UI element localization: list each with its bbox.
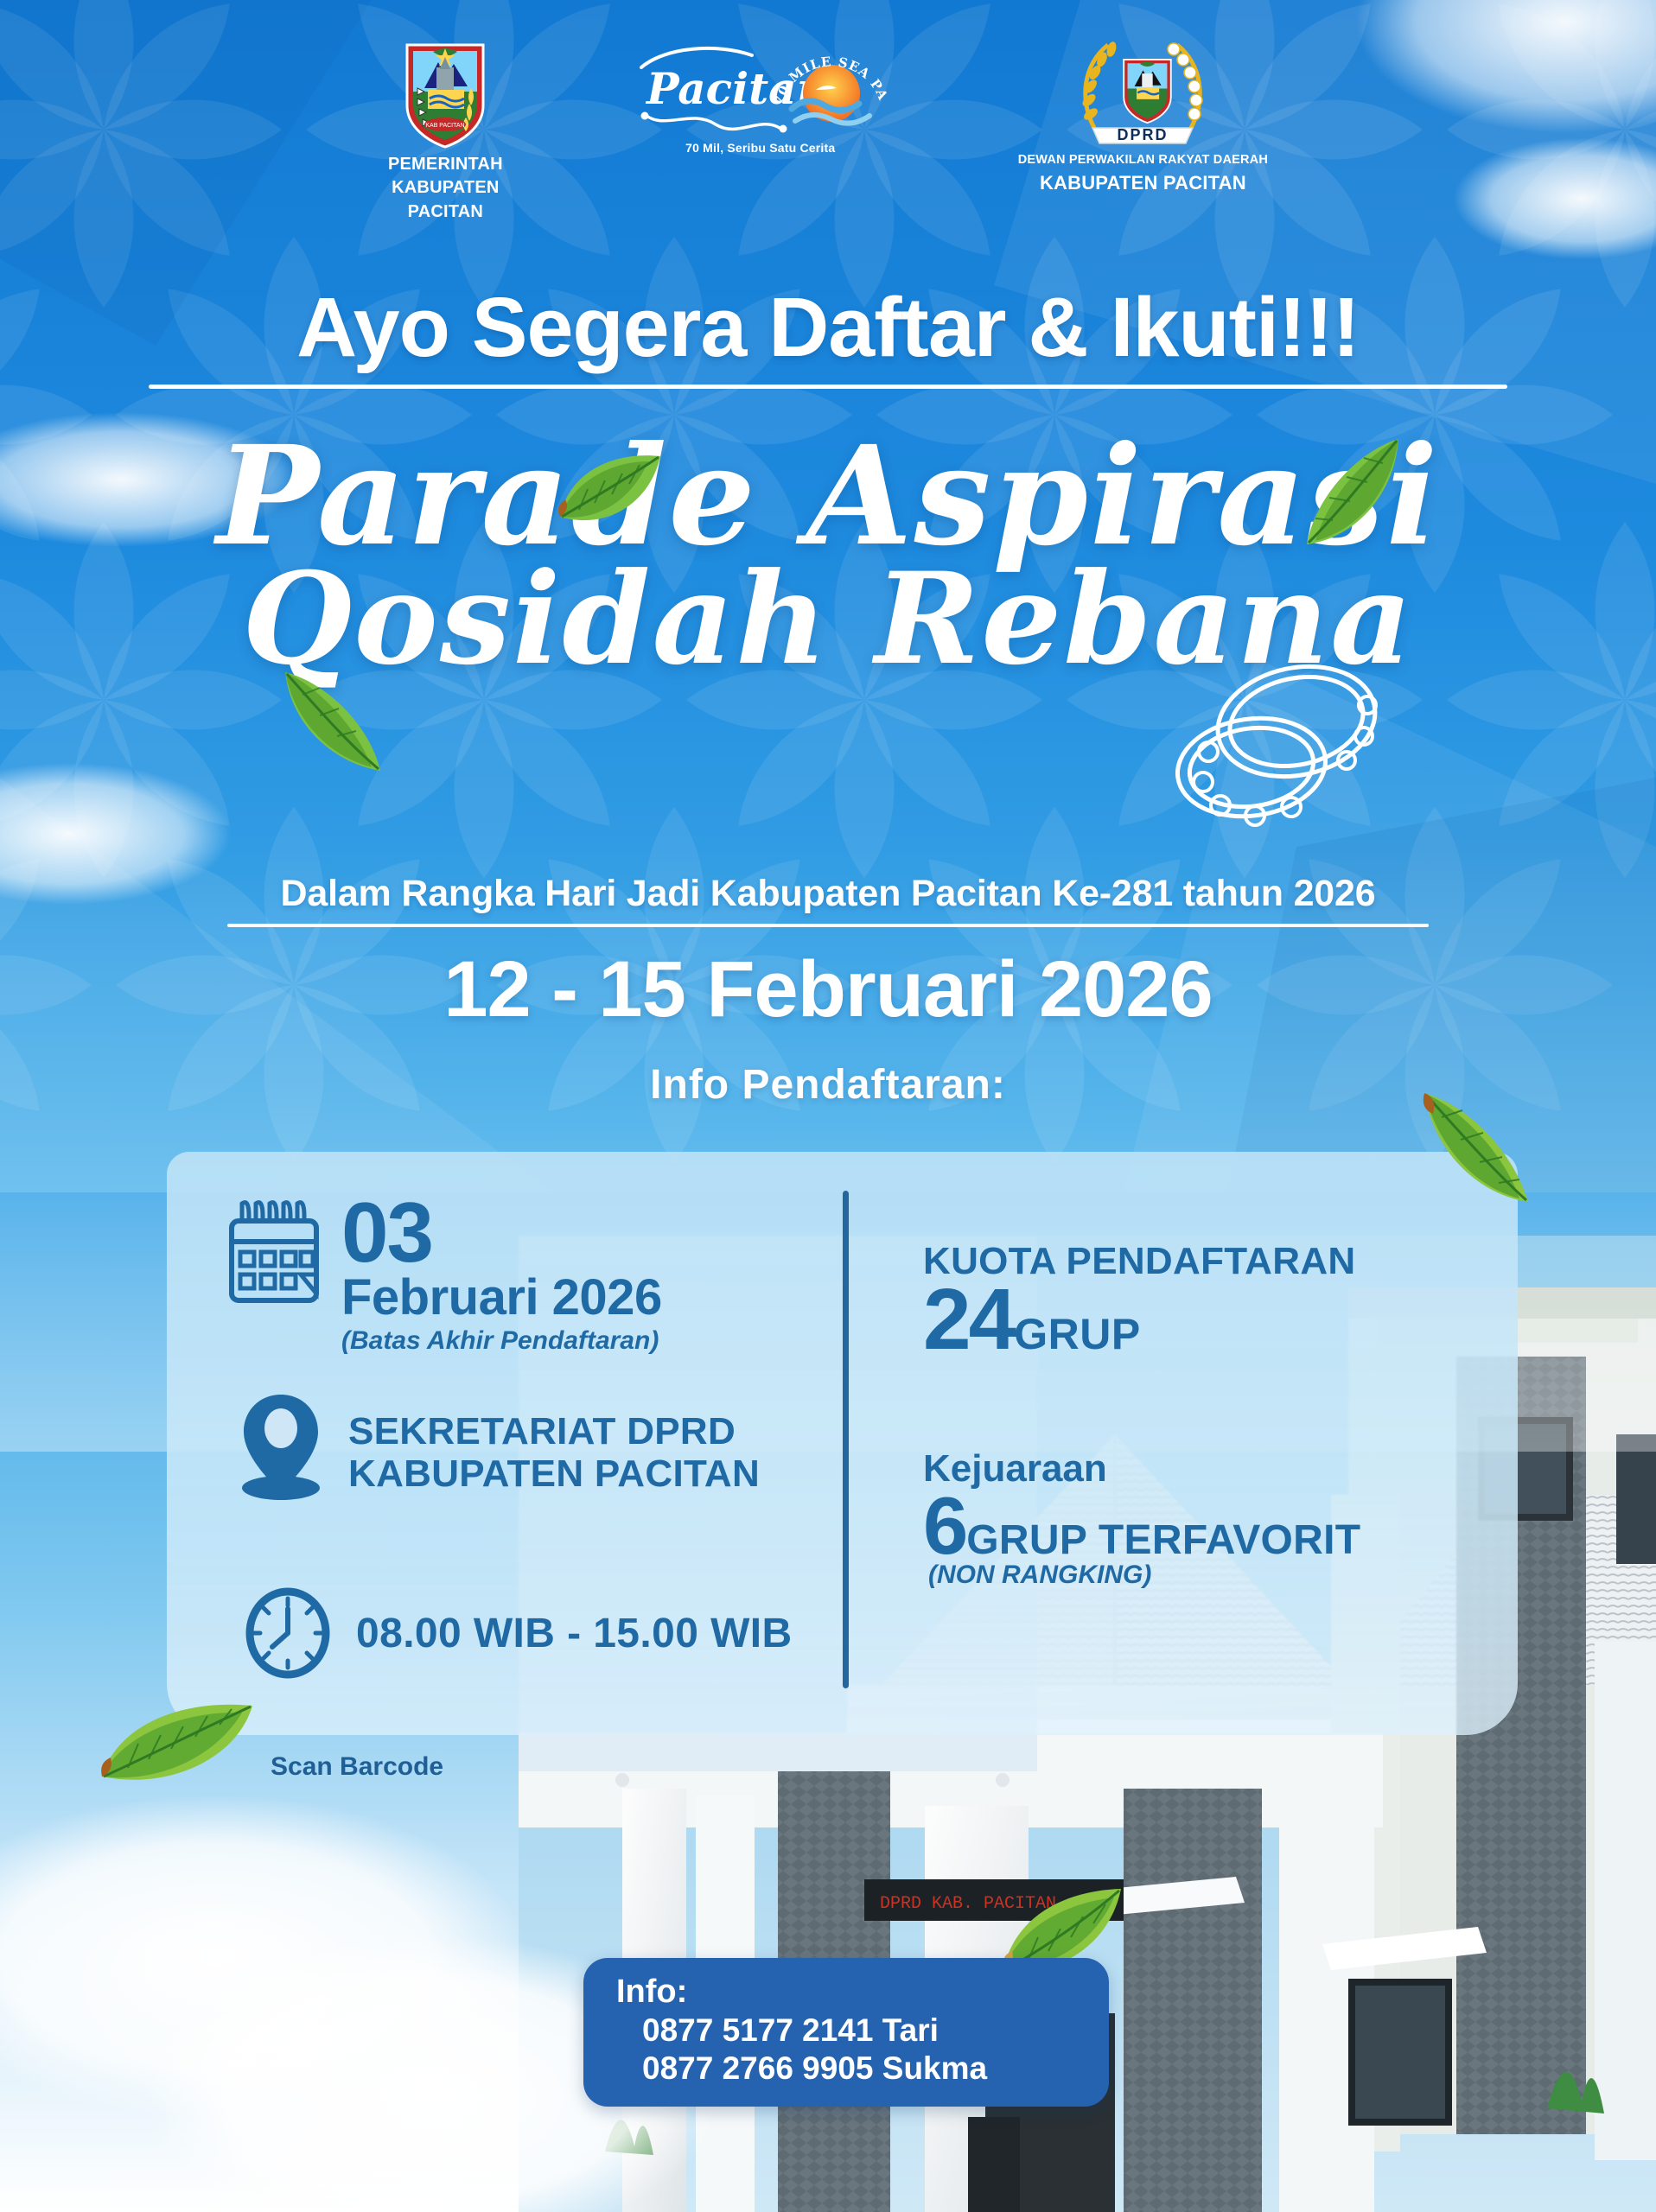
location-line2: KABUPATEN PACITAN — [348, 1452, 760, 1495]
script-title-line2: Qosidah Rebana — [0, 557, 1656, 681]
championship-block: Kejuaraan 6 GRUP TERFAVORIT (NON RANGKIN… — [923, 1447, 1360, 1590]
info-card-vertical-divider — [843, 1191, 849, 1688]
deadline-note: (Batas Akhir Pendaftaran) — [341, 1326, 662, 1356]
pemerintah-kabupaten-pacitan-logo: KAB PACITAN — [398, 38, 492, 150]
logo-caption-dprd-small: DEWAN PERWAKILAN RAKYAT DAERAH — [1018, 154, 1268, 168]
svg-text:DPRD: DPRD — [1118, 126, 1169, 143]
pacitan-tourism-logo: Pacitan 70-MILE SEA PARADISE — [631, 41, 890, 138]
location-row: SEKRETARIAT DPRD KABUPATEN PACITAN — [229, 1391, 760, 1500]
contact-phone-2: 0877 2766 9905 Sukma — [642, 2050, 1109, 2088]
championship-unit: GRUP TERFAVORIT — [966, 1516, 1360, 1564]
svg-text:KAB PACITAN: KAB PACITAN — [426, 123, 465, 129]
script-title-block: Parade Aspirasi Qosidah Rebana — [0, 430, 1656, 681]
time-row: 08.00 WIB - 15.00 WIB — [242, 1586, 793, 1681]
contact-info-pill: Info: 0877 5177 2141 Tari 0877 2766 9905… — [583, 1958, 1109, 2107]
quota-number: 24 — [923, 1280, 1014, 1359]
hero-headline-block: Ayo Segera Daftar & Ikuti!!! — [0, 285, 1656, 389]
championship-number: 6 — [923, 1489, 966, 1563]
contact-title: Info: — [616, 1974, 1109, 2012]
quota-block: KUOTA PENDAFTARAN 24 GRUP — [923, 1240, 1355, 1359]
logo-caption-dprd-big: KABUPATEN PACITAN — [1040, 173, 1246, 194]
logo-caption-pemkab-line3: PACITAN — [408, 203, 483, 221]
time-value: 08.00 WIB - 15.00 WIB — [356, 1610, 793, 1657]
cloud-bottom-left — [0, 1754, 605, 2160]
scan-barcode-label: Scan Barcode — [271, 1752, 443, 1782]
event-dates: 12 - 15 Februari 2026 — [0, 948, 1656, 1032]
logo-caption-pemkab-line2: KABUPATEN — [392, 179, 499, 197]
championship-note: (NON RANGKING) — [928, 1560, 1360, 1590]
svg-text:DPRD KAB. PACITAN: DPRD KAB. PACITAN — [880, 1894, 1056, 1914]
logo-caption-pemkab-line1: PEMERINTAH — [388, 156, 503, 174]
calendar-icon — [220, 1195, 328, 1307]
logo-block-pemkab: KAB PACITAN PEMERINTAH KABUPATEN PACITAN — [388, 38, 503, 221]
subline-block: Dalam Rangka Hari Jadi Kabupaten Pacitan… — [0, 873, 1656, 1109]
deadline-day: 03 — [341, 1195, 662, 1269]
subline-underline-rule — [227, 924, 1429, 927]
contact-phone-1: 0877 5177 2141 Tari — [642, 2012, 1109, 2050]
logo-block-pacitan-tourism: Pacitan 70-MILE SEA PARADISE — [631, 41, 890, 155]
event-subline: Dalam Rangka Hari Jadi Kabupaten Pacitan… — [0, 873, 1656, 915]
location-line1: SEKRETARIAT DPRD — [348, 1410, 760, 1452]
clock-icon — [242, 1586, 334, 1681]
dprd-kabupaten-pacitan-logo: DPRD — [1073, 31, 1212, 149]
script-title-line1: Parade Aspirasi — [0, 430, 1656, 564]
registration-info-label: Info Pendaftaran: — [0, 1061, 1656, 1109]
map-pin-icon — [229, 1391, 333, 1500]
quota-unit: GRUP — [1014, 1309, 1140, 1359]
hero-headline: Ayo Segera Daftar & Ikuti!!! — [0, 285, 1656, 369]
championship-label: Kejuaraan — [923, 1447, 1360, 1491]
poster-canvas: DPRD KAB. PACITAN — [0, 0, 1656, 2212]
header-logos: KAB PACITAN PEMERINTAH KABUPATEN PACITAN — [0, 38, 1656, 211]
logo-caption-pacitan-tagline: 70 Mil, Seribu Satu Cerita — [685, 142, 835, 155]
headline-underline-rule — [149, 385, 1507, 389]
logo-block-dprd: DPRD DEWAN PERWAKILAN RAKYAT DAERAH KABU… — [1018, 31, 1268, 193]
deadline-row: 03 Februari 2026 (Batas Akhir Pendaftara… — [220, 1195, 662, 1356]
deadline-month-year: Februari 2026 — [341, 1273, 662, 1323]
